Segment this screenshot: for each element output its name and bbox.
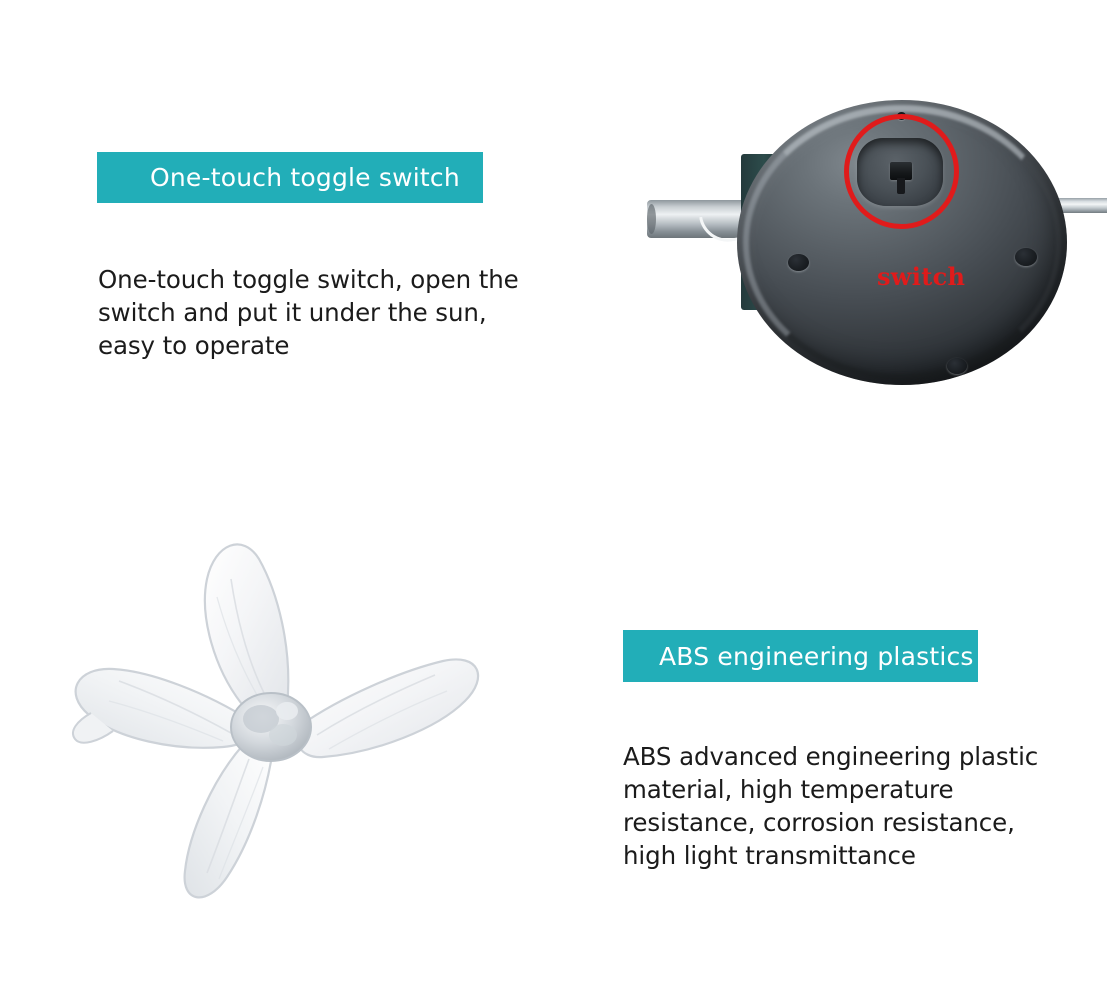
screw-hole-left <box>788 254 809 271</box>
annotation-label-switch: switch <box>877 262 965 291</box>
solar-switch-module-photo: switch <box>645 70 1107 415</box>
banner-label: One-touch toggle switch <box>150 163 460 192</box>
screw-hole-bottom <box>947 358 967 374</box>
section-body-one-touch-toggle-switch: One-touch toggle switch, open the switch… <box>98 263 548 362</box>
butterfly-illustration <box>55 535 485 910</box>
annotation-circle-icon <box>844 114 959 229</box>
clear-butterfly-photo <box>55 535 485 910</box>
butterfly-wing-lower-right <box>297 659 478 757</box>
section-body-abs-engineering-plastics: ABS advanced engineering plastic materia… <box>623 740 1075 872</box>
section-banner-one-touch-toggle-switch: One-touch toggle switch <box>97 152 483 203</box>
banner-label: ABS engineering plastics <box>659 642 974 671</box>
product-feature-infographic: One-touch toggle switch One-touch toggle… <box>0 0 1107 1000</box>
screw-hole-right <box>1015 248 1037 266</box>
section-banner-abs-engineering-plastics: ABS engineering plastics <box>623 630 978 682</box>
